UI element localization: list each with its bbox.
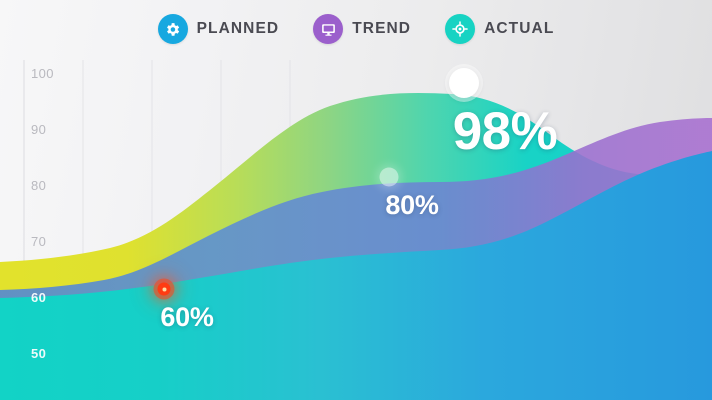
data-label-trend: 80% xyxy=(385,190,438,221)
legend-label-actual: ACTUAL xyxy=(484,20,554,38)
chart-screenshot: PLANNED TREND xyxy=(0,0,712,400)
y-axis-tick-50: 50 xyxy=(31,346,46,361)
data-point-marker-actual[interactable] xyxy=(449,68,479,98)
data-label-actual: 98% xyxy=(453,101,558,162)
legend-item-actual[interactable]: ACTUAL xyxy=(445,14,554,44)
data-label-planned: 60% xyxy=(160,302,213,333)
legend-label-trend: TREND xyxy=(352,20,411,38)
y-axis-tick-90: 90 xyxy=(31,122,46,137)
chart-legend: PLANNED TREND xyxy=(0,14,712,44)
y-axis-tick-60: 60 xyxy=(31,290,46,305)
y-axis-tick-70: 70 xyxy=(31,234,46,249)
data-point-marker-planned[interactable] xyxy=(158,283,171,296)
legend-item-trend[interactable]: TREND xyxy=(313,14,411,44)
y-axis-tick-80: 80 xyxy=(31,178,46,193)
target-icon xyxy=(445,14,475,44)
legend-item-planned[interactable]: PLANNED xyxy=(158,14,280,44)
y-axis-tick-100: 100 xyxy=(31,66,54,81)
stacked-area-chart xyxy=(0,0,712,400)
gear-icon xyxy=(158,14,188,44)
monitor-icon xyxy=(313,14,343,44)
legend-label-planned: PLANNED xyxy=(197,20,280,38)
data-point-marker-trend[interactable] xyxy=(380,168,399,187)
